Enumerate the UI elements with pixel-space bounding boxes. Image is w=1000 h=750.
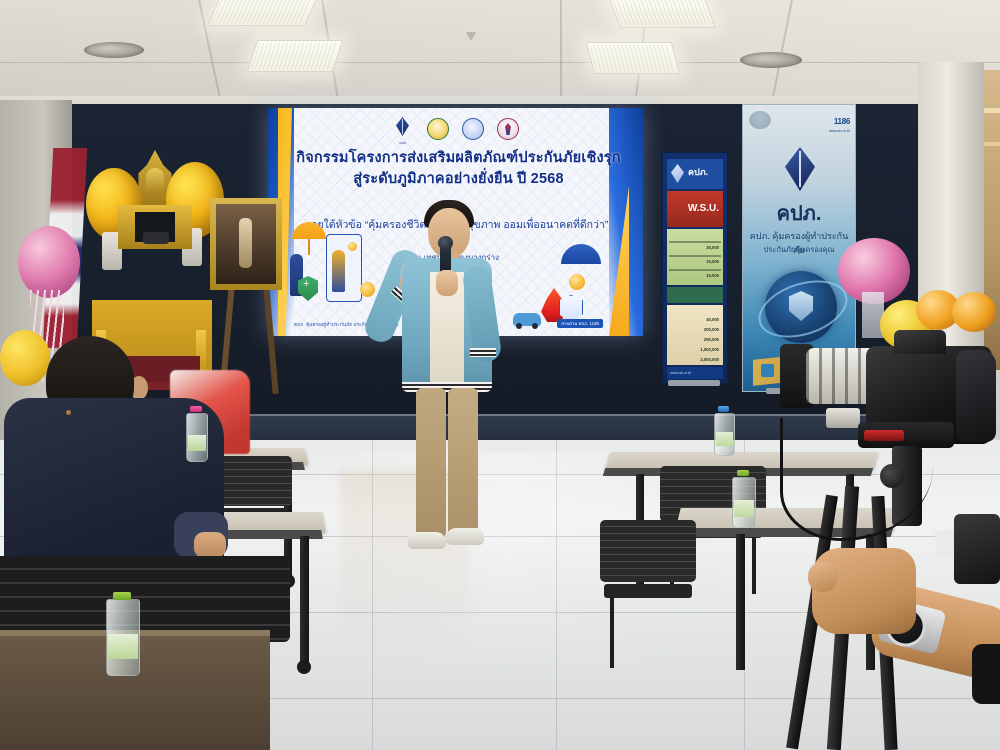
speaker-leg — [416, 388, 446, 538]
chair-seat — [604, 584, 692, 598]
air-vent — [740, 52, 802, 68]
air-vent — [84, 42, 144, 58]
banner-hotline-number: 1186 — [834, 117, 850, 126]
offering-bowl — [143, 232, 169, 244]
bottle-body — [106, 599, 140, 676]
banner-amount: 10,000 — [706, 273, 719, 278]
banner-amount: 200,000 — [704, 327, 719, 332]
banner-amount: 40,000 — [706, 317, 719, 322]
banner-tagline-line2: ประกันภัยคุ้มครองคุณ — [749, 244, 849, 256]
water-bottle — [732, 470, 754, 526]
camera-viewfinder-hump — [894, 330, 946, 354]
banner-large-brand: คปภ. — [743, 197, 855, 229]
banner-amount: 30,000 — [706, 245, 719, 250]
banner-small-brand: คปภ. — [688, 165, 708, 179]
royal-portrait-image — [216, 204, 276, 284]
oic-diamond-logo — [785, 147, 815, 191]
chair-back — [600, 520, 696, 582]
table-leg — [300, 536, 309, 666]
speaker-presenter — [372, 196, 522, 578]
risk-icons-illustration — [511, 244, 607, 330]
operator-sleeve — [972, 644, 1000, 704]
ceiling-light-panel — [247, 40, 343, 72]
ceiling-light-panel — [586, 42, 681, 74]
speaker-sneaker — [408, 532, 446, 549]
shirt-button — [66, 410, 71, 415]
umbrella-icon — [292, 222, 326, 239]
bottle-body — [732, 477, 756, 528]
banner-small-cream-table: 40,000 200,000 250,000 1,000,000 2,000,0… — [667, 305, 723, 365]
attendee-hand — [194, 532, 226, 558]
bottle-cap — [737, 470, 749, 476]
banner-small-divider — [667, 287, 723, 303]
banner-amount: 250,000 — [704, 337, 719, 342]
water-bottle — [714, 406, 733, 454]
shield-icon — [298, 276, 318, 301]
portrait-figure — [239, 218, 252, 268]
banner-small-header: คปภ. — [667, 159, 723, 189]
ceiling-light-panel — [207, 0, 319, 26]
banner-hotline-block: 1186 www.oic.or.th — [829, 111, 850, 133]
community-welfare-logo — [497, 116, 519, 140]
pink-flower-arrangement — [18, 226, 80, 298]
speaker-sneaker — [446, 528, 484, 545]
royal-thai-government-emblem — [427, 116, 449, 140]
water-bottle — [106, 592, 138, 674]
slide-hotline-badge: สายด่วน คปภ. 1186 — [557, 319, 603, 328]
chair — [600, 520, 696, 670]
coin-icon — [569, 274, 585, 290]
banner-small-green-table: 30,000 15,000 10,000 — [667, 229, 723, 285]
bottle-label — [188, 435, 206, 451]
speaker-hand-holding-mic — [436, 270, 458, 296]
banner-website: www.oic.or.th — [829, 129, 850, 133]
water-bottle — [186, 406, 206, 460]
insurance-family-illustration — [286, 220, 378, 318]
bottle-body — [714, 413, 735, 456]
bottle-cap — [718, 406, 729, 412]
bottle-cap — [113, 592, 131, 600]
banner-small-footer: www.oic.or.th — [667, 367, 723, 379]
royal-portrait-frame — [210, 198, 282, 290]
banner-small-heading: W.S.U. — [688, 203, 719, 214]
rollup-banner-small: คปภ. W.S.U. 30,000 15,000 10,000 40,000 … — [662, 152, 728, 384]
bottle-cap — [190, 406, 201, 412]
oic-logo-caption: คปภ. — [392, 141, 414, 146]
sprinkler-head — [466, 32, 476, 41]
camera-operator-hand — [812, 548, 1000, 750]
chair-leg — [610, 596, 614, 668]
bottle-label — [734, 500, 754, 517]
banner-icon-chip — [761, 364, 774, 377]
banner-amount: 15,000 — [706, 259, 719, 264]
speaker-leg — [448, 388, 478, 538]
bottle-label — [716, 432, 733, 446]
slide-title-line1: กิจกรรมโครงการส่งเสริมผลิตภัณฑ์ประกันภัย… — [290, 148, 627, 169]
operator-thumb — [808, 562, 838, 592]
dslr-camera — [806, 322, 1000, 522]
table-leg — [736, 534, 745, 670]
conference-room-photo: คปภ. กิจกรรมโครงการส่งเสริมผลิตภัณฑ์ประก… — [0, 0, 1000, 750]
slide-logo-row: คปภ. — [268, 116, 643, 140]
chair-leg — [752, 536, 756, 594]
coin-icon — [348, 242, 357, 251]
bottle-body — [186, 413, 208, 462]
oic-diamond-logo: คปภ. — [392, 116, 414, 140]
slide-title: กิจกรรมโครงการส่งเสริมผลิตภัณฑ์ประกันภัย… — [290, 148, 627, 189]
slide-title-line2: สู่ระดับภูมิภาคอย่างยั่งยืน ปี 2568 — [290, 169, 627, 190]
provincial-seal-logo — [462, 116, 484, 140]
banner-amount: 2,000,000 — [700, 357, 719, 362]
oic-watermark-logo — [749, 111, 771, 129]
jacket-cuff — [470, 348, 496, 357]
bottle-label — [108, 634, 138, 660]
person-figure — [332, 250, 345, 292]
banner-small-stand — [668, 380, 720, 386]
banner-small-red-section: W.S.U. — [667, 191, 723, 227]
ceiling-light-panel — [608, 0, 716, 28]
table-caster — [297, 660, 311, 674]
banner-amount: 1,000,000 — [700, 347, 719, 352]
jacket-hem-trim — [402, 382, 492, 392]
camera-battery-grip — [956, 350, 996, 442]
umbrella-icon — [561, 244, 601, 264]
buddha-statue — [146, 168, 164, 194]
oic-diamond-logo — [671, 164, 684, 183]
